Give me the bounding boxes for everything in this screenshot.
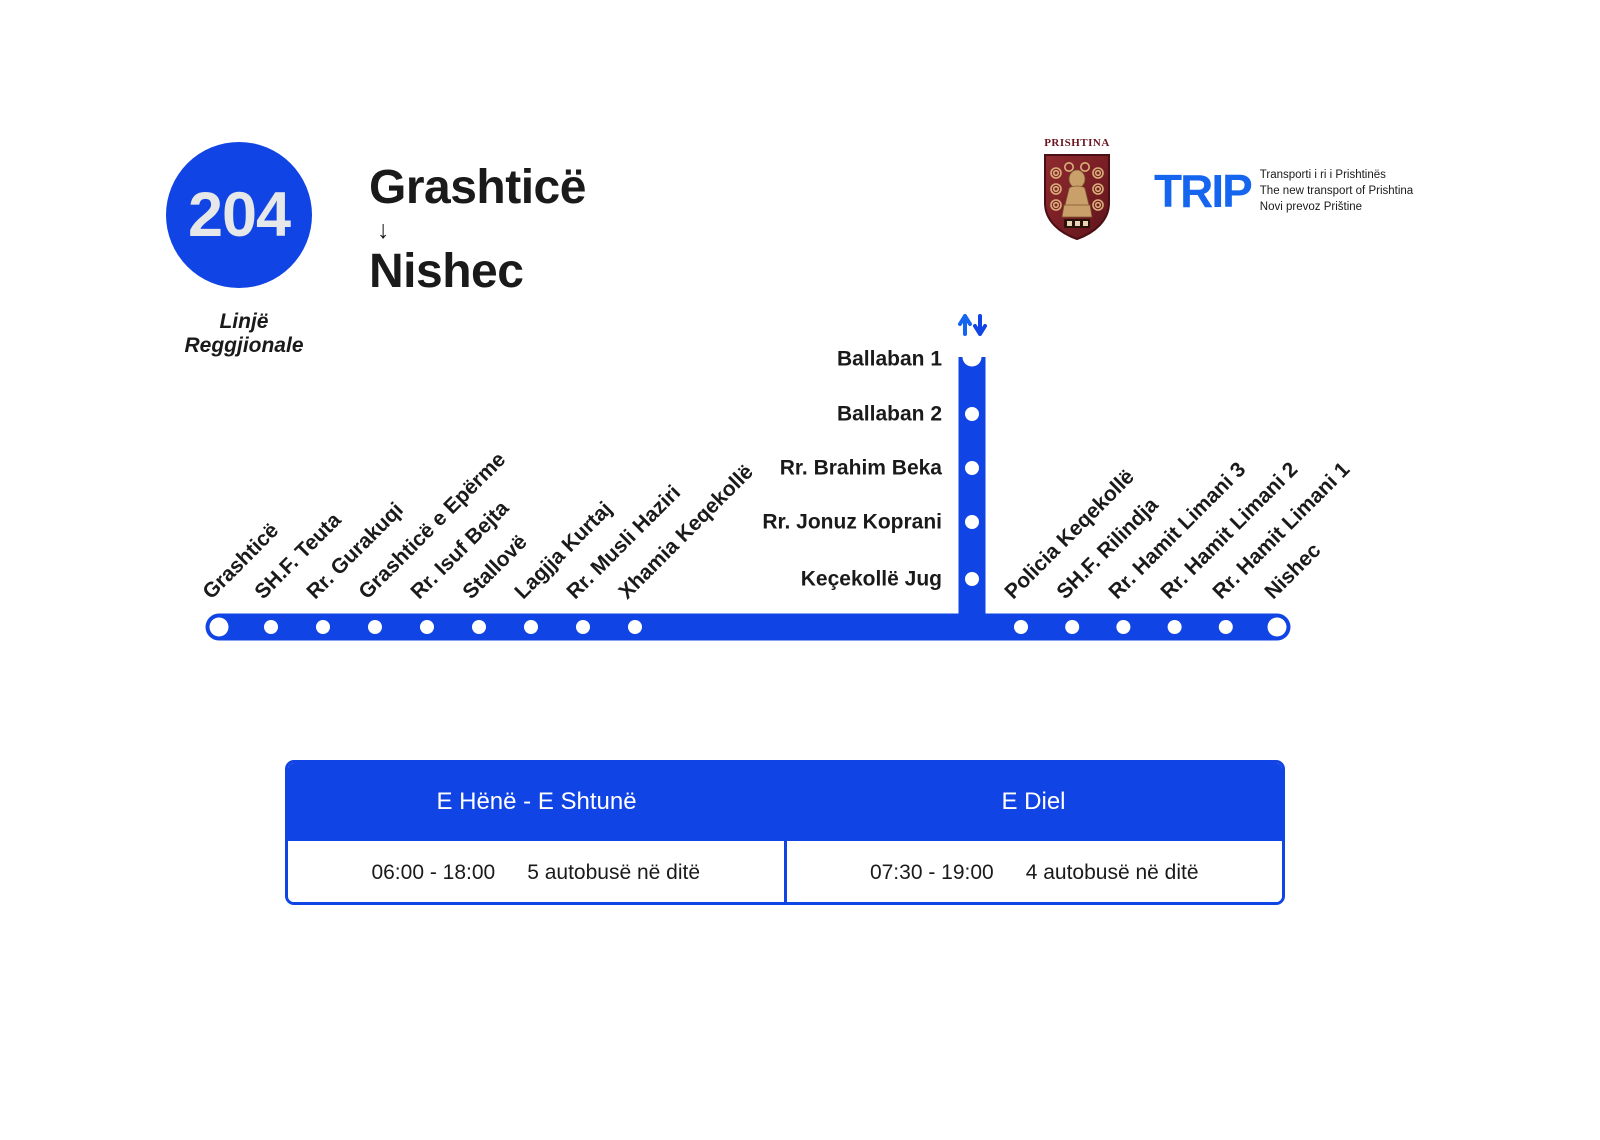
- stop-marker-ballaban-2[interactable]: [965, 407, 979, 421]
- branding-area: PRISHTINA: [1036, 137, 1413, 241]
- stop-marker-policia-keqekolle[interactable]: [1014, 620, 1028, 634]
- tagline-albanian: Transporti i ri i Prishtinës: [1260, 167, 1413, 183]
- tagline-serbian: Novi prevoz Prištine: [1260, 199, 1413, 215]
- trip-tagline: Transporti i ri i Prishtinës The new tra…: [1260, 167, 1413, 216]
- schedule-header-weekday: E Hënë - E Shtunë: [288, 763, 785, 841]
- schedule-body-row: 06:00 - 18:00 5 autobusë në ditë 07:30 -…: [288, 841, 1282, 905]
- stop-marker-rr-jonuz-koprani[interactable]: [965, 515, 979, 529]
- stop-marker-rr-brahim-beka[interactable]: [965, 461, 979, 475]
- stop-marker-sh-f-rilindja[interactable]: [1065, 620, 1079, 634]
- stop-marker-grashtice-e-eperme[interactable]: [368, 620, 382, 634]
- route-destination: Nishec: [369, 247, 586, 297]
- stop-label-ballaban-2: Ballaban 2: [600, 404, 942, 425]
- terminus-direction-arrows-icon: [960, 316, 985, 334]
- sunday-hours: 07:30 - 19:00: [870, 861, 994, 885]
- stop-marker-rr-hamit-limani-3[interactable]: [1116, 620, 1130, 634]
- stop-marker-rr-isuf-bejta[interactable]: [420, 620, 434, 634]
- stop-label-rr-brahim-beka: Rr. Brahim Beka: [600, 458, 942, 479]
- tagline-english: The new transport of Prishtina: [1260, 183, 1413, 199]
- schedule-cell-sunday: 07:30 - 19:00 4 autobusë në ditë: [784, 841, 1283, 905]
- stop-label-kecekolle-jug: Keçekollë Jug: [600, 569, 942, 590]
- stop-marker-rr-hamit-limani-1[interactable]: [1219, 620, 1233, 634]
- stop-label-rr-jonuz-koprani: Rr. Jonuz Koprani: [600, 512, 942, 533]
- stop-marker-stallove[interactable]: [472, 620, 486, 634]
- route-origin: Grashticë: [369, 163, 586, 213]
- stop-marker-kecekolle-jug[interactable]: [965, 572, 979, 586]
- schedule-header-sunday: E Diel: [785, 763, 1282, 841]
- route-poster: 204 Linjë Reggjionale Grashticë ↓ Nishec…: [0, 0, 1600, 1140]
- route-title-block: Grashticë ↓ Nishec: [369, 163, 586, 298]
- schedule-cell-weekday: 06:00 - 18:00 5 autobusë në ditë: [288, 841, 784, 905]
- stop-marker-sh-f-teuta[interactable]: [264, 620, 278, 634]
- stop-marker-ballaban-1[interactable]: [963, 348, 982, 367]
- trip-logo: TRIP Transporti i ri i Prishtinës The ne…: [1154, 167, 1413, 216]
- route-number: 204: [188, 184, 290, 247]
- route-number-badge: 204: [166, 142, 312, 288]
- stop-marker-rr-musli-haziri[interactable]: [576, 620, 590, 634]
- trip-wordmark: TRIP: [1154, 168, 1251, 214]
- stop-marker-rr-gurakuqi[interactable]: [316, 620, 330, 634]
- arrow-down-icon: ↓: [377, 218, 586, 243]
- prishtina-crest-icon: PRISHTINA: [1036, 137, 1118, 241]
- schedule-table: E Hënë - E Shtunë E Diel 06:00 - 18:00 5…: [285, 760, 1285, 905]
- sunday-frequency: 4 autobusë në ditë: [1026, 861, 1199, 885]
- stop-marker-nishec[interactable]: [1268, 618, 1287, 637]
- weekday-hours: 06:00 - 18:00: [371, 861, 495, 885]
- crest-label: PRISHTINA: [1036, 137, 1118, 149]
- schedule-header-row: E Hënë - E Shtunë E Diel: [288, 763, 1282, 841]
- weekday-frequency: 5 autobusë në ditë: [527, 861, 700, 885]
- stop-marker-xhamia-keqekolle[interactable]: [628, 620, 642, 634]
- coat-of-arms-shield-icon: [1042, 153, 1112, 241]
- stop-label-ballaban-1: Ballaban 1: [600, 349, 942, 370]
- stop-marker-lagjja-kurtaj[interactable]: [524, 620, 538, 634]
- stop-marker-grashtice[interactable]: [210, 618, 229, 637]
- stop-marker-rr-hamit-limani-2[interactable]: [1168, 620, 1182, 634]
- route-type-label: Linjë Reggjionale: [159, 310, 329, 358]
